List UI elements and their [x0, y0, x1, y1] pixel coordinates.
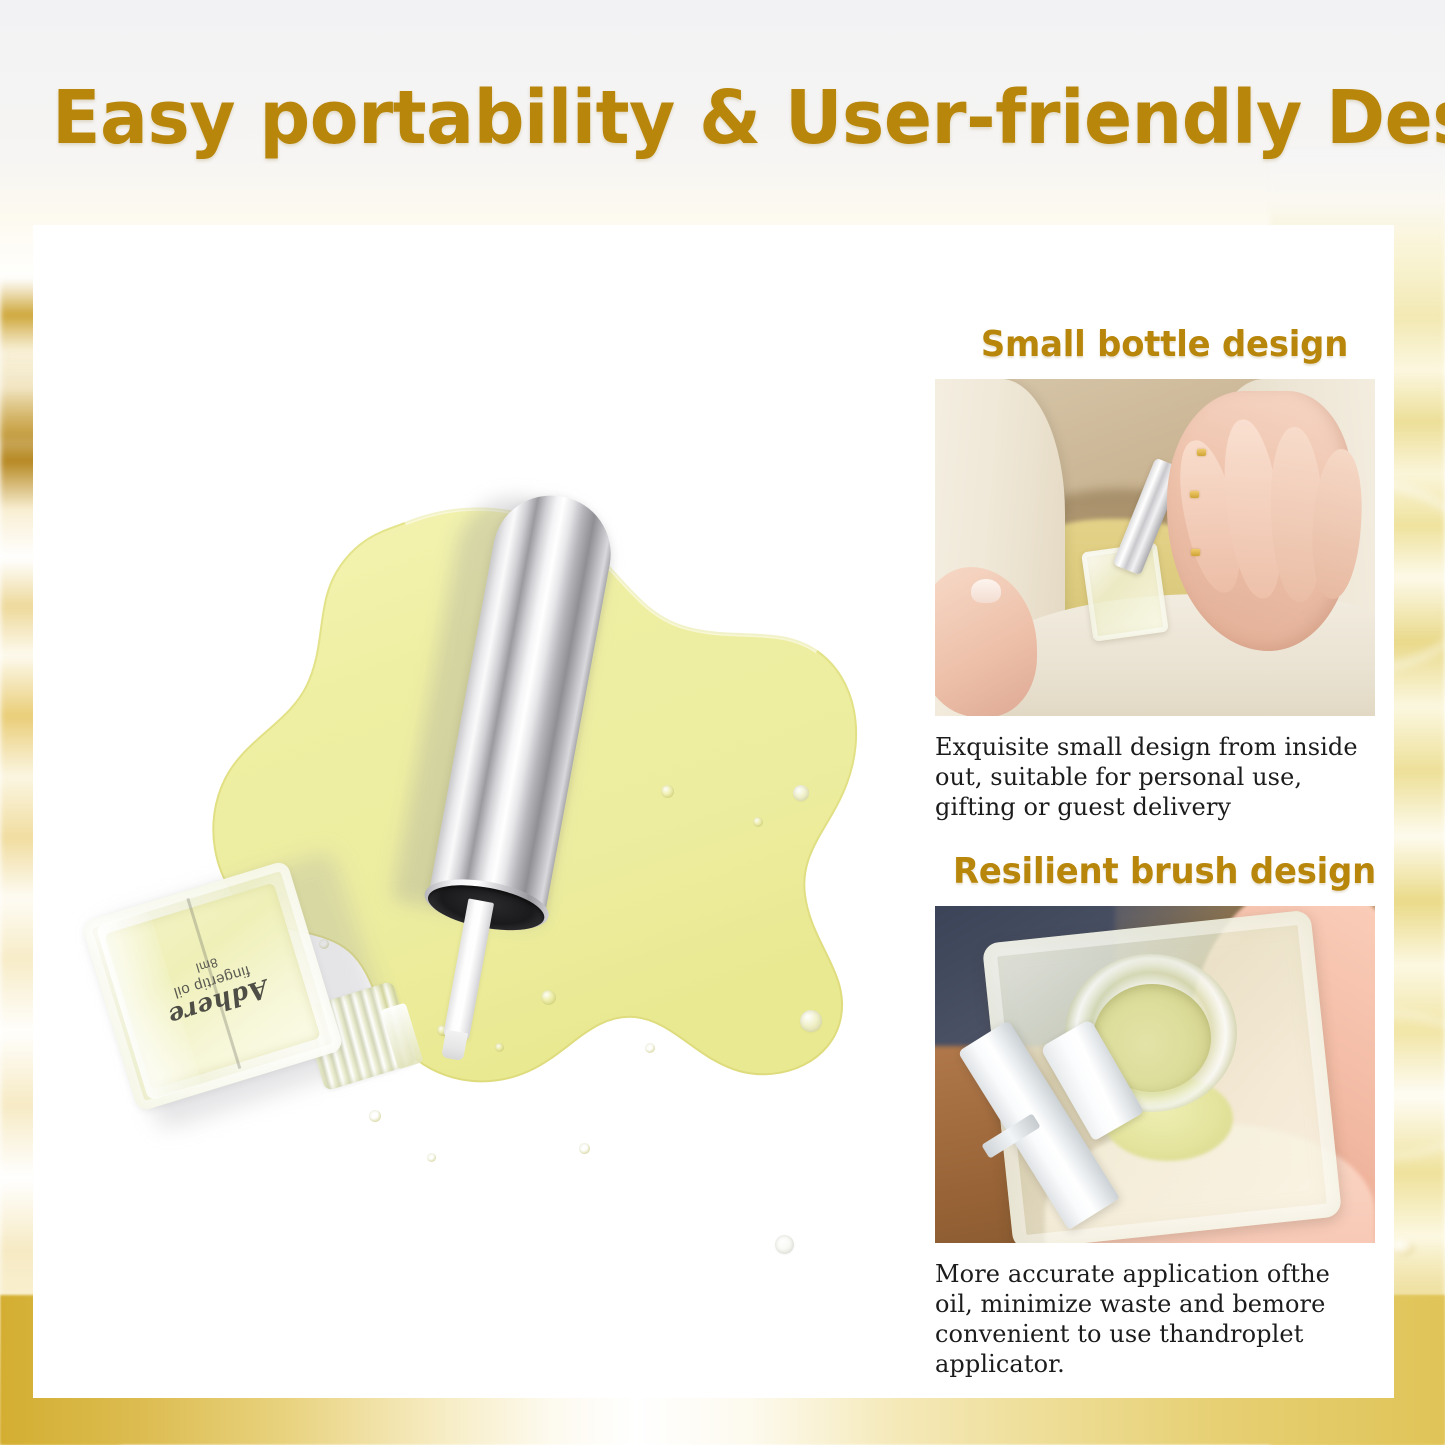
panel-title-small-bottle: Small bottle design [949, 323, 1380, 367]
feature-panel-resilient-brush: Resilient brush design More accurate app [935, 850, 1394, 1379]
nail-gold-charm [1191, 549, 1200, 556]
oil-bubble [579, 1143, 590, 1154]
feature-panels: Small bottle design [935, 225, 1394, 1398]
oil-bubble [541, 990, 556, 1005]
oil-bubble [495, 1043, 504, 1052]
caption-resilient-brush: More accurate application ofthe oil, min… [935, 1259, 1375, 1379]
oil-droplet-outside [793, 785, 809, 801]
oil-droplet-outside [775, 1235, 794, 1254]
oil-bubble [645, 1043, 655, 1053]
glass-bottle: Adhere fingertip oil 8ml [93, 865, 453, 1165]
panel-title-resilient-brush: Resilient brush design [949, 850, 1380, 894]
thumb-nail [971, 579, 1001, 603]
feature-panel-small-bottle: Small bottle design [935, 323, 1394, 822]
photo-small-bottle-design [935, 379, 1375, 716]
hero-product-image: Adhere fingertip oil 8ml [33, 225, 933, 1398]
nail-gold-charm [1197, 449, 1206, 456]
oil-bubble [753, 817, 763, 827]
page-title: Easy portability & User-friendly Design [52, 76, 1343, 160]
product-infographic: Easy portability & User-friendly Design [0, 0, 1445, 1445]
oil-droplet-outside [800, 1010, 822, 1032]
oil-bubble [661, 785, 674, 798]
photo-resilient-brush-design [935, 906, 1375, 1243]
content-card: Adhere fingertip oil 8ml Small bottle de… [33, 225, 1394, 1398]
nail-gold-charm [1190, 491, 1199, 498]
caption-small-bottle: Exquisite small design from inside out, … [935, 732, 1365, 822]
